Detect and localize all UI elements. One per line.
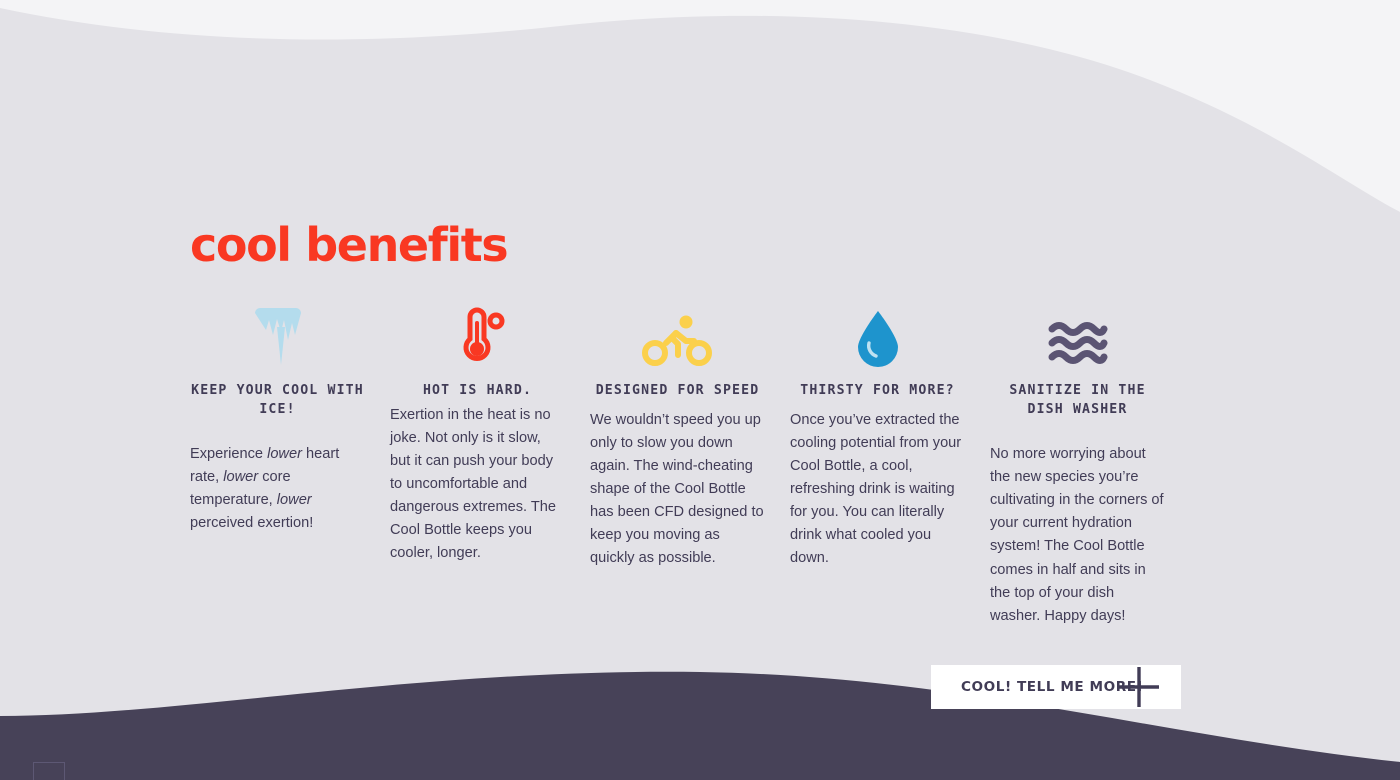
benefit-heading: SANITIZE IN THE DISH WASHER: [990, 381, 1165, 419]
benefit-heading: HOT IS HARD.: [423, 381, 532, 400]
benefit-body: Exertion in the heat is no joke. Not onl…: [390, 404, 565, 565]
icicle-icon: [247, 305, 309, 367]
benefit-body: We wouldn’t speed you up only to slow yo…: [590, 409, 765, 570]
benefit-heading: KEEP YOUR COOL WITH ICE!: [190, 381, 365, 419]
cta-container: COOL! TELL ME MORE!: [931, 665, 1181, 709]
page-root: cool benefits KEEP YOUR COOL WITH ICE! E…: [0, 0, 1400, 780]
benefit-body: Once you’ve extracted the cooling potent…: [790, 409, 965, 570]
benefit-body: No more worrying about the new species y…: [990, 443, 1165, 627]
water-drop-icon: [853, 305, 903, 367]
benefit-item: SANITIZE IN THE DISH WASHER No more worr…: [990, 305, 1190, 628]
waves-icon: [1048, 305, 1108, 367]
benefit-body: Experience lower heart rate, lower core …: [190, 443, 365, 535]
benefit-item: KEEP YOUR COOL WITH ICE! Experience lowe…: [190, 305, 390, 535]
benefit-item: DESIGNED FOR SPEED We wouldn’t speed you…: [590, 305, 790, 570]
corner-mark: [33, 762, 65, 780]
thermometer-icon: [448, 305, 508, 367]
benefits-list: KEEP YOUR COOL WITH ICE! Experience lowe…: [190, 305, 1190, 628]
page-title: cool benefits: [190, 222, 507, 268]
benefit-item: THIRSTY FOR MORE? Once you’ve extracted …: [790, 305, 990, 570]
benefit-item: HOT IS HARD. Exertion in the heat is no …: [390, 305, 590, 565]
benefit-heading: DESIGNED FOR SPEED: [596, 381, 760, 400]
plus-icon[interactable]: [1116, 664, 1162, 710]
benefit-heading: THIRSTY FOR MORE?: [800, 381, 955, 400]
cyclist-icon: [642, 305, 714, 367]
